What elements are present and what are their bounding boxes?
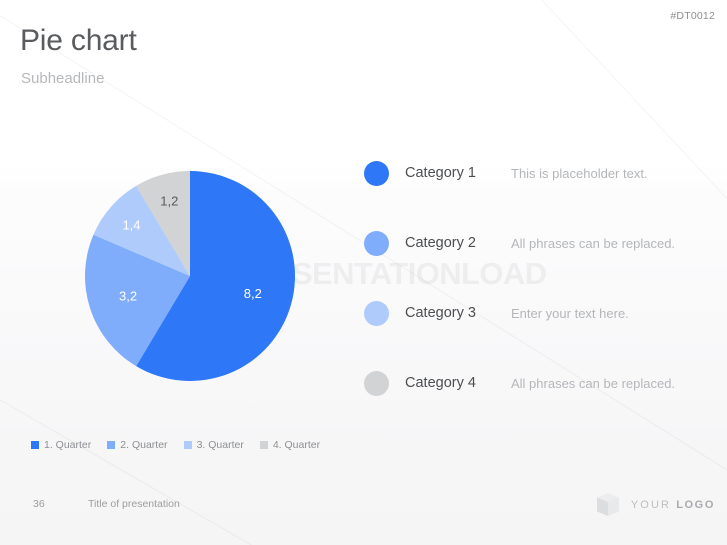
pie-slices bbox=[85, 171, 295, 381]
footer-presentation-title: Title of presentation bbox=[88, 498, 180, 510]
legend-item-description: Enter your text here. bbox=[511, 306, 629, 321]
legend-color-dot bbox=[364, 231, 389, 256]
legend-item-description: All phrases can be replaced. bbox=[511, 376, 675, 391]
pie-slice-value-label: 3,2 bbox=[119, 289, 137, 304]
legend-item-category-4[interactable]: Category 4 All phrases can be replaced. bbox=[364, 348, 714, 418]
page-subtitle: Subheadline bbox=[21, 70, 104, 87]
legend-item-label: Category 4 bbox=[405, 375, 501, 391]
category-legend: Category 1 This is placeholder text. Cat… bbox=[364, 138, 714, 418]
series-color-swatch bbox=[107, 441, 115, 449]
pie-slice-value-label: 1,4 bbox=[122, 217, 140, 232]
legend-item-label: Category 3 bbox=[405, 305, 501, 321]
legend-item-label: Category 2 bbox=[405, 235, 501, 251]
series-legend-label: 4. Quarter bbox=[273, 439, 320, 451]
chart-series-legend: 1. Quarter 2. Quarter 3. Quarter 4. Quar… bbox=[31, 439, 320, 451]
logo-word-2: LOGO bbox=[676, 499, 715, 511]
legend-item-category-2[interactable]: Category 2 All phrases can be replaced. bbox=[364, 208, 714, 278]
pie-slice-value-label: 8,2 bbox=[244, 286, 262, 301]
series-legend-item-1[interactable]: 1. Quarter bbox=[31, 439, 91, 451]
logo-word-1: YOUR bbox=[631, 499, 671, 511]
cube-icon bbox=[596, 492, 620, 517]
logo[interactable]: YOUR LOGO bbox=[596, 492, 715, 517]
legend-color-dot bbox=[364, 371, 389, 396]
legend-item-category-3[interactable]: Category 3 Enter your text here. bbox=[364, 278, 714, 348]
series-color-swatch bbox=[184, 441, 192, 449]
pie-chart-svg: 8,23,21,41,2 bbox=[84, 170, 296, 382]
series-legend-label: 1. Quarter bbox=[44, 439, 91, 451]
series-legend-item-3[interactable]: 3. Quarter bbox=[184, 439, 244, 451]
legend-item-description: All phrases can be replaced. bbox=[511, 236, 675, 251]
legend-color-dot bbox=[364, 161, 389, 186]
series-color-swatch bbox=[31, 441, 39, 449]
legend-item-description: This is placeholder text. bbox=[511, 166, 648, 181]
page-number: 36 bbox=[33, 498, 45, 510]
logo-text: YOUR LOGO bbox=[631, 499, 715, 511]
page-title: Pie chart bbox=[20, 24, 137, 58]
pie-slice-value-label: 1,2 bbox=[160, 194, 178, 209]
series-legend-label: 3. Quarter bbox=[197, 439, 244, 451]
template-code: #DT0012 bbox=[670, 10, 715, 22]
legend-item-label: Category 1 bbox=[405, 165, 501, 181]
series-legend-label: 2. Quarter bbox=[120, 439, 167, 451]
legend-color-dot bbox=[364, 301, 389, 326]
series-color-swatch bbox=[260, 441, 268, 449]
series-legend-item-2[interactable]: 2. Quarter bbox=[107, 439, 167, 451]
pie-chart[interactable]: 8,23,21,41,2 bbox=[84, 170, 296, 382]
legend-item-category-1[interactable]: Category 1 This is placeholder text. bbox=[364, 138, 714, 208]
series-legend-item-4[interactable]: 4. Quarter bbox=[260, 439, 320, 451]
slide-canvas: #DT0012 Pie chart Subheadline PRESENTATI… bbox=[0, 0, 727, 545]
